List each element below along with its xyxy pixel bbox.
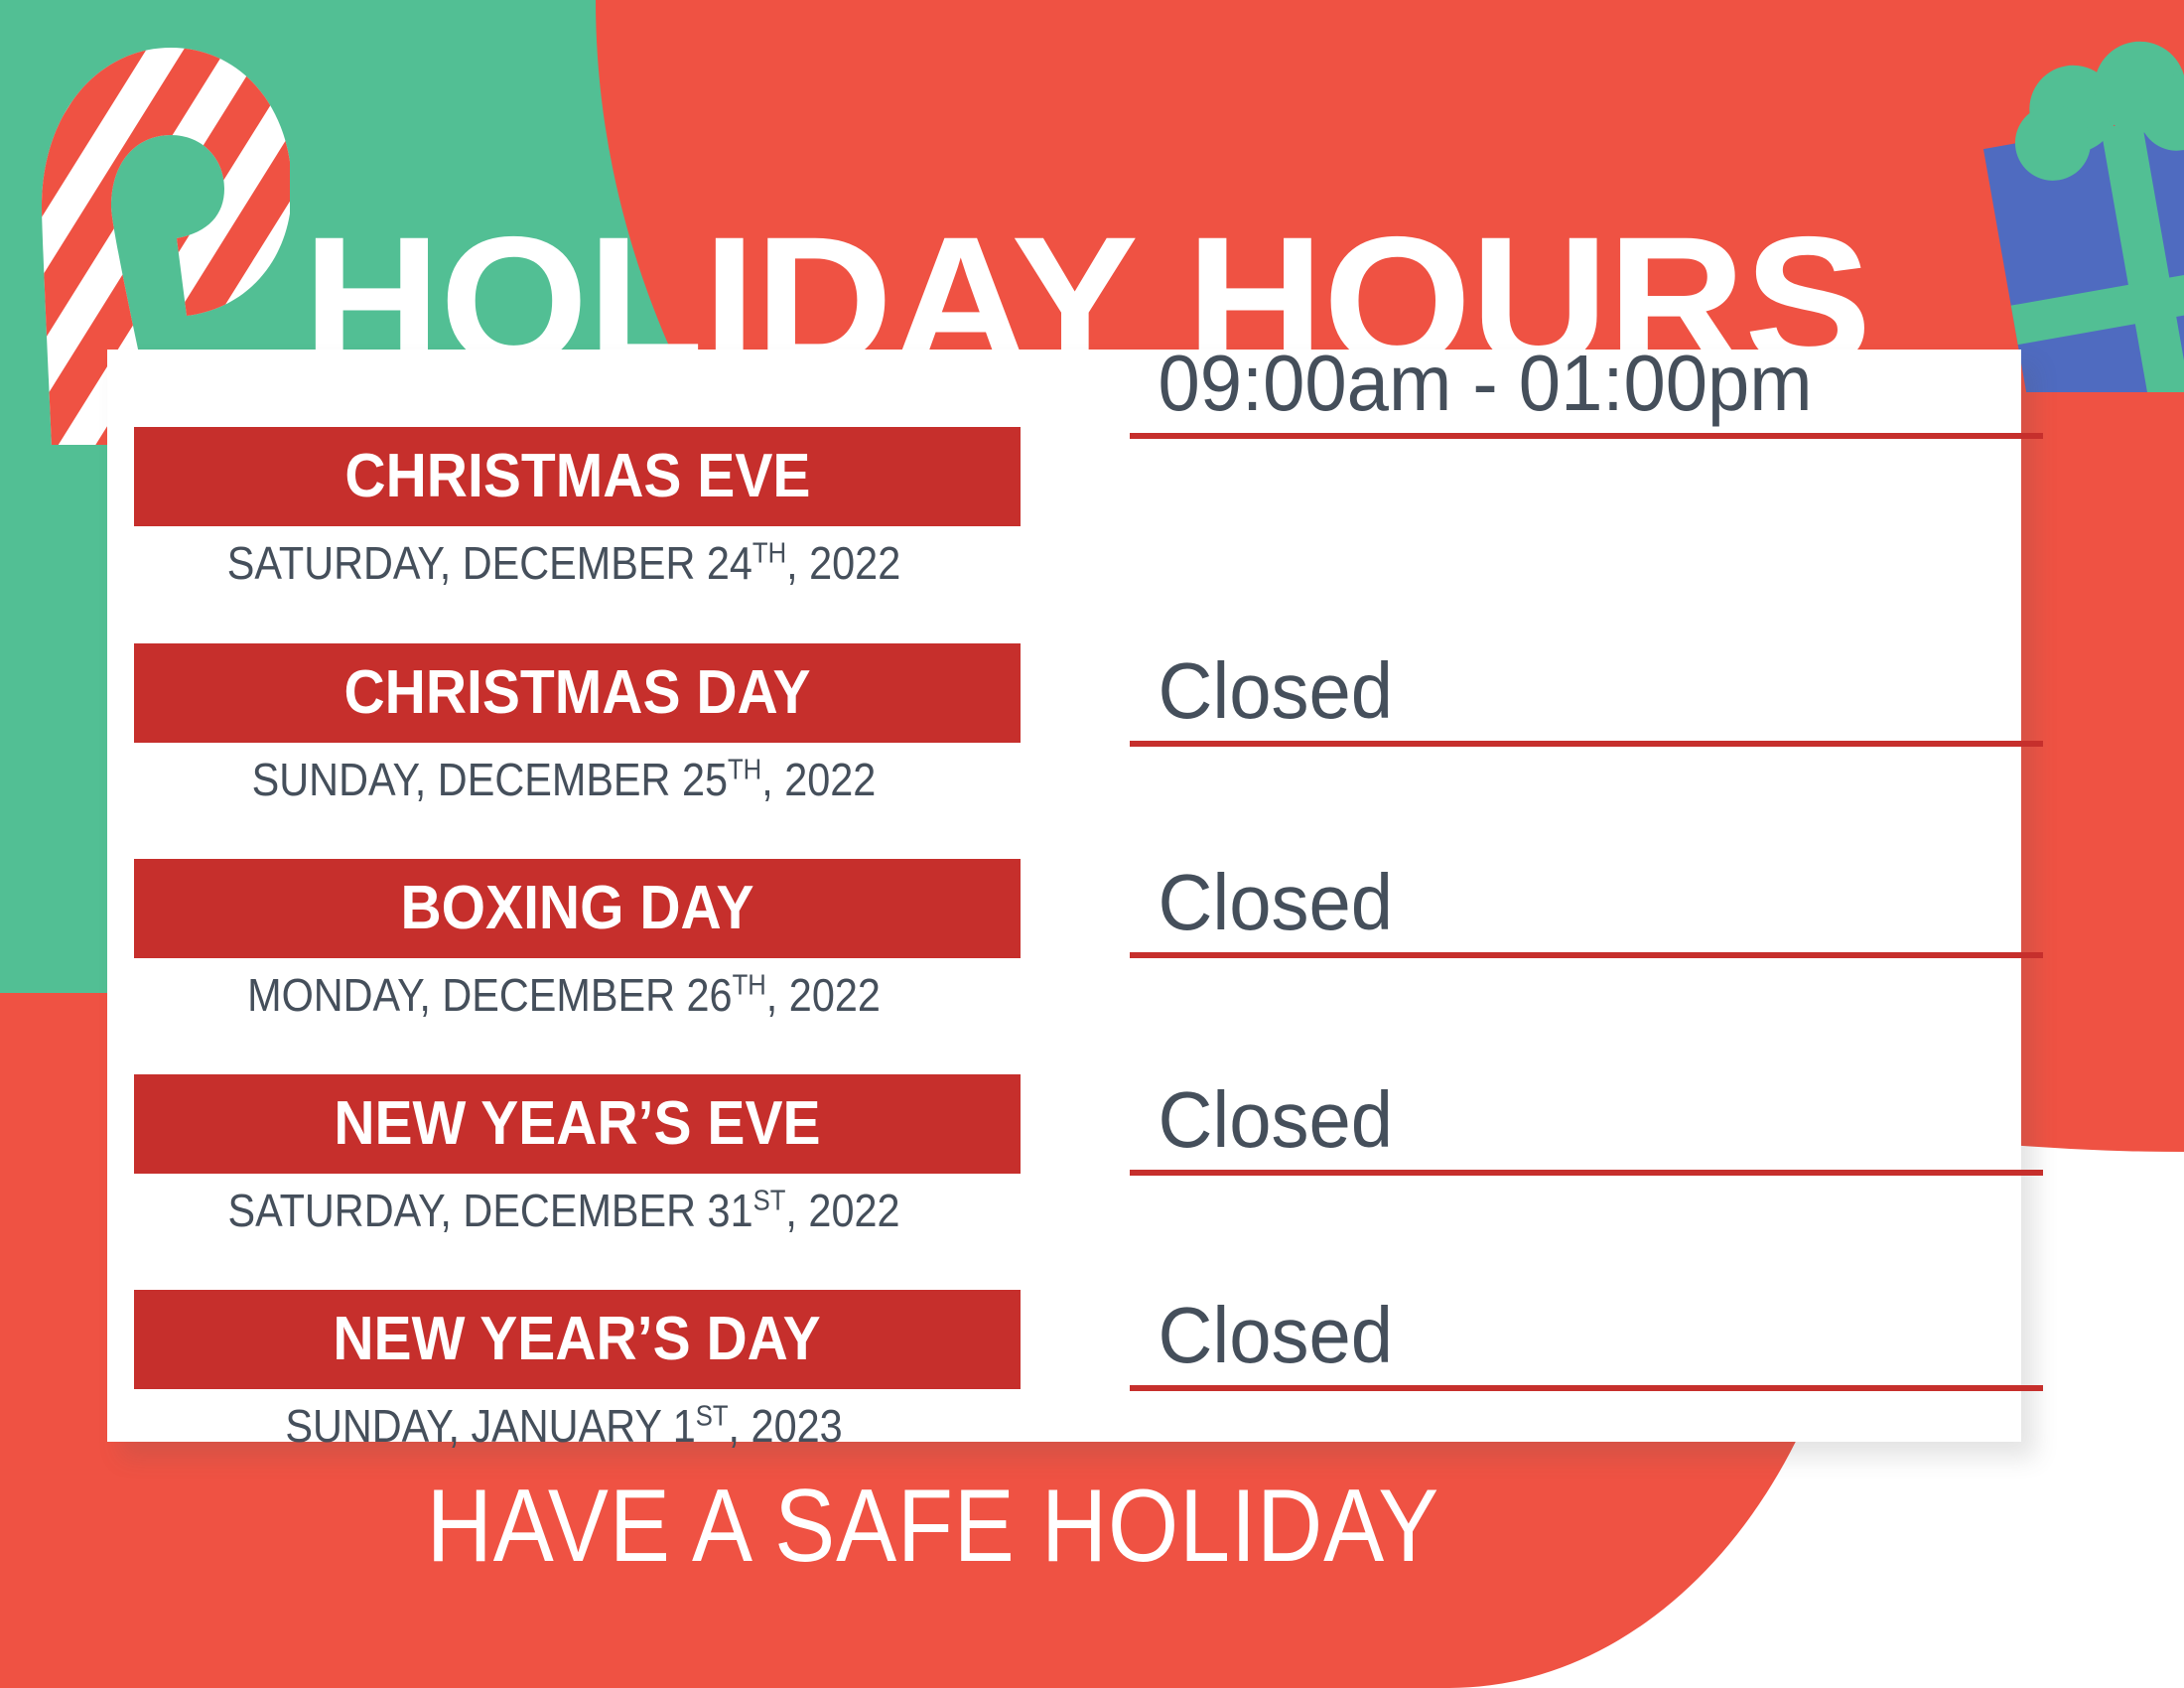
holiday-hours-poster: HOLIDAY HOURS CHRISTMAS EVE SATURDAY, DE… [0, 0, 2184, 1688]
row-day-column: NEW YEAR’S DAY SUNDAY, JANUARY 1ST, 2023 [107, 1290, 1001, 1449]
day-date-ordinal: TH [733, 970, 766, 1002]
hours-value: Closed [1130, 1070, 1979, 1170]
day-banner: NEW YEAR’S EVE [134, 1074, 1021, 1174]
day-date: SATURDAY, DECEMBER 31ST, 2022 [153, 1188, 975, 1233]
day-date-ordinal: TH [752, 538, 786, 570]
row-day-column: CHRISTMAS DAY SUNDAY, DECEMBER 25TH, 202… [107, 643, 1001, 802]
table-row: CHRISTMAS EVE SATURDAY, DECEMBER 24TH, 2… [107, 350, 2021, 643]
hours-card: CHRISTMAS EVE SATURDAY, DECEMBER 24TH, 2… [107, 350, 2021, 1442]
row-hours-column: Closed [1130, 641, 2023, 747]
day-label: NEW YEAR’S DAY [334, 1309, 821, 1370]
day-date-year: , 2022 [761, 754, 876, 805]
hours-value: Closed [1130, 853, 1979, 952]
row-hours-column: Closed [1130, 1286, 2023, 1391]
day-label: BOXING DAY [400, 878, 753, 939]
day-date-ordinal: TH [728, 755, 761, 786]
day-date-year: , 2022 [766, 969, 881, 1021]
day-date: SATURDAY, DECEMBER 24TH, 2022 [153, 540, 975, 586]
table-row: NEW YEAR’S EVE SATURDAY, DECEMBER 31ST, … [107, 1074, 2021, 1290]
day-label: CHRISTMAS EVE [344, 446, 810, 507]
hours-divider [1130, 1385, 2043, 1391]
row-day-column: NEW YEAR’S EVE SATURDAY, DECEMBER 31ST, … [107, 1074, 1001, 1233]
day-date-prefix: SUNDAY, JANUARY 1 [285, 1400, 695, 1452]
hours-value: Closed [1130, 641, 1979, 741]
day-label: NEW YEAR’S EVE [334, 1093, 820, 1155]
day-date: SUNDAY, DECEMBER 25TH, 2022 [153, 757, 975, 802]
day-banner: CHRISTMAS DAY [134, 643, 1021, 743]
row-day-column: BOXING DAY MONDAY, DECEMBER 26TH, 2022 [107, 859, 1001, 1018]
day-date-prefix: SUNDAY, DECEMBER 25 [252, 754, 728, 805]
hours-divider [1130, 741, 2043, 747]
row-hours-column: Closed [1130, 853, 2023, 958]
day-date-prefix: SATURDAY, DECEMBER 31 [227, 1185, 752, 1236]
footer-message: HAVE A SAFE HOLIDAY [112, 1475, 1754, 1578]
day-date: SUNDAY, JANUARY 1ST, 2023 [153, 1403, 975, 1449]
row-day-column: CHRISTMAS EVE SATURDAY, DECEMBER 24TH, 2… [107, 427, 1001, 586]
day-banner: NEW YEAR’S DAY [134, 1290, 1021, 1389]
hours-rows: CHRISTMAS EVE SATURDAY, DECEMBER 24TH, 2… [107, 350, 2021, 1442]
day-date-year: , 2022 [786, 537, 900, 589]
hours-divider [1130, 433, 2043, 439]
row-hours-column: Closed [1130, 1070, 2023, 1176]
row-hours-column: 09:00am - 01:00pm [1130, 334, 2023, 439]
day-date-ordinal: ST [696, 1401, 729, 1433]
day-date: MONDAY, DECEMBER 26TH, 2022 [153, 972, 975, 1018]
day-date-year: , 2022 [785, 1185, 899, 1236]
table-row: BOXING DAY MONDAY, DECEMBER 26TH, 2022 C… [107, 859, 2021, 1074]
day-banner: BOXING DAY [134, 859, 1021, 958]
day-date-prefix: MONDAY, DECEMBER 26 [247, 969, 733, 1021]
hours-divider [1130, 952, 2043, 958]
table-row: CHRISTMAS DAY SUNDAY, DECEMBER 25TH, 202… [107, 643, 2021, 859]
day-label: CHRISTMAS DAY [343, 662, 810, 724]
hours-value: 09:00am - 01:00pm [1130, 334, 1979, 433]
day-date-ordinal: ST [753, 1186, 786, 1217]
hours-value: Closed [1130, 1286, 1979, 1385]
day-banner: CHRISTMAS EVE [134, 427, 1021, 526]
day-date-year: , 2023 [729, 1400, 843, 1452]
hours-divider [1130, 1170, 2043, 1176]
day-date-prefix: SATURDAY, DECEMBER 24 [227, 537, 752, 589]
